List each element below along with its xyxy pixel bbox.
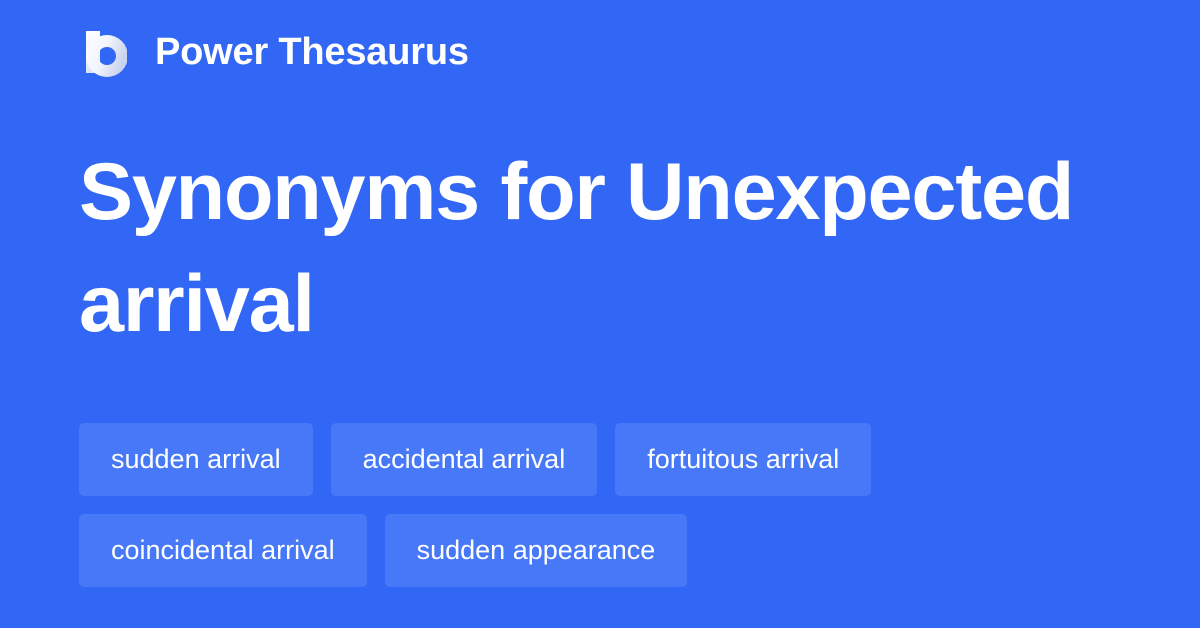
brand-name: Power Thesaurus bbox=[155, 33, 469, 71]
synonym-tag[interactable]: coincidental arrival bbox=[79, 514, 367, 587]
power-thesaurus-b-logo-icon bbox=[79, 26, 131, 78]
synonym-tag[interactable]: fortuitous arrival bbox=[615, 423, 871, 496]
synonym-tag[interactable]: sudden appearance bbox=[385, 514, 688, 587]
page-title: Synonyms for Unexpected arrival bbox=[79, 137, 1129, 361]
synonym-tag-list: sudden arrival accidental arrival fortui… bbox=[79, 423, 1129, 587]
brand-header[interactable]: Power Thesaurus bbox=[79, 26, 469, 78]
page-root: Power Thesaurus Synonyms for Unexpected … bbox=[0, 0, 1200, 628]
synonym-tag[interactable]: accidental arrival bbox=[331, 423, 598, 496]
synonym-tag[interactable]: sudden arrival bbox=[79, 423, 313, 496]
